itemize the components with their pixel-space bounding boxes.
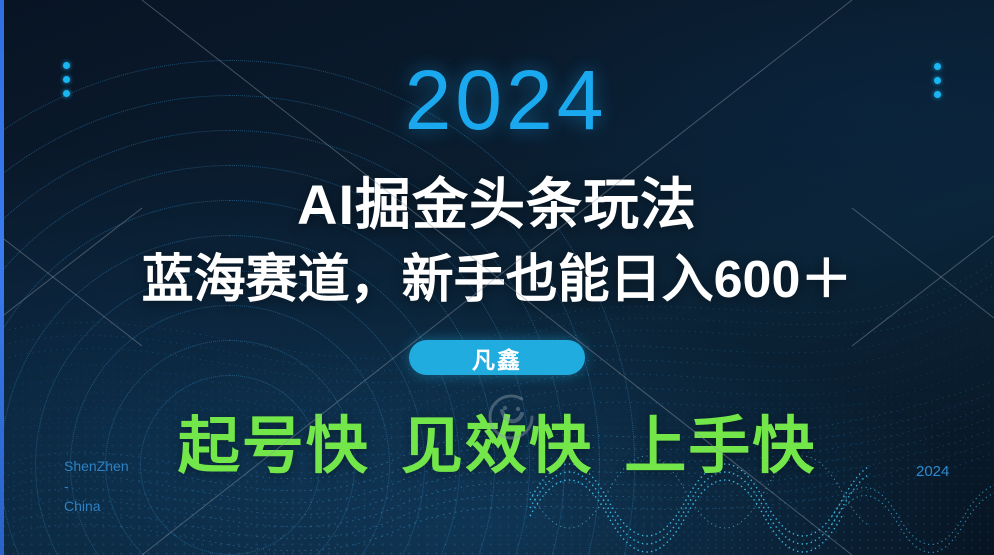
decor-dot <box>934 77 941 84</box>
tagline-part-1: 起号快 <box>178 412 370 481</box>
dot-triple-top-right <box>934 63 941 98</box>
year-headline: 2024 <box>0 58 994 142</box>
promo-poster: 2024 AI掘金头条玩法 蓝海赛道，新手也能日入600＋ 凡鑫 起号快 见效快… <box>0 0 994 555</box>
decor-dot <box>63 62 70 69</box>
decor-dot <box>63 90 70 97</box>
page-subtitle: 蓝海赛道，新手也能日入600＋ <box>0 252 994 309</box>
poster-content: 2024 AI掘金头条玩法 蓝海赛道，新手也能日入600＋ 凡鑫 起号快 见效快… <box>0 0 994 555</box>
tagline-part-3: 上手快 <box>624 412 816 481</box>
watermark-dash: - <box>64 476 129 496</box>
decor-dot <box>934 91 941 98</box>
author-badge-wrap: 凡鑫 <box>0 340 994 375</box>
left-accent-bar <box>0 0 4 555</box>
decor-dot <box>934 63 941 70</box>
watermark-year: 2024 <box>916 463 949 480</box>
decor-dot <box>63 76 70 83</box>
watermark-city: ShenZhen <box>64 456 129 476</box>
tagline: 起号快 见效快 上手快 <box>0 414 994 479</box>
watermark-country: China <box>64 496 129 516</box>
dot-triple-top-left <box>63 62 70 97</box>
watermark-location: ShenZhen - China <box>64 456 129 516</box>
tagline-part-2: 见效快 <box>401 412 593 481</box>
author-badge: 凡鑫 <box>409 340 585 375</box>
page-title: AI掘金头条玩法 <box>0 176 994 235</box>
